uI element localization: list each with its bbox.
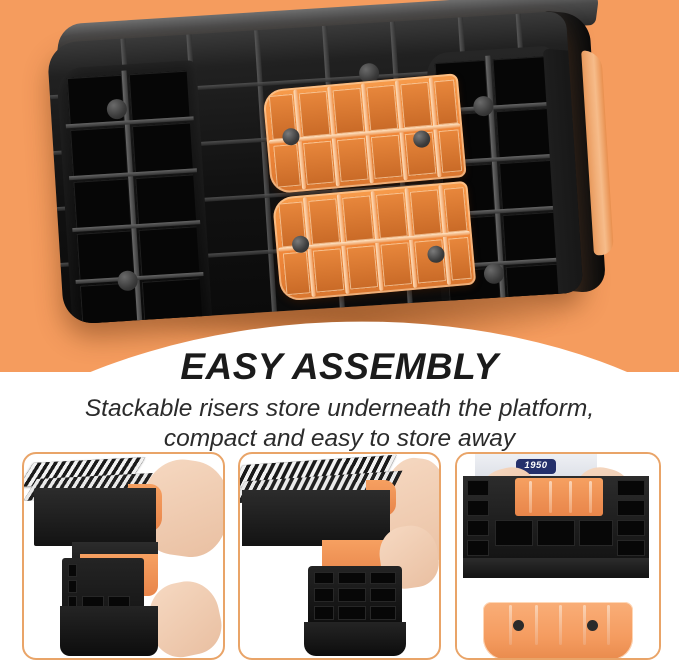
page-subtitle: Stackable risers store underneath the pl… — [0, 394, 679, 454]
orange-riser-stack — [262, 73, 480, 302]
riser-foot — [587, 620, 598, 631]
platform-underside-body — [47, 11, 584, 325]
riser-orange-bottom — [272, 181, 476, 302]
riser-orange-top — [262, 73, 466, 194]
riser-black-base — [304, 622, 406, 656]
panel-inserting-riser: 1950 — [455, 452, 661, 660]
step-platform — [45, 0, 609, 345]
subtitle-line-1: Stackable risers store underneath the pl… — [85, 395, 594, 422]
product-image-stage: EASY ASSEMBLY Stackable risers store und… — [0, 0, 679, 665]
subtitle-line-2: compact and easy to store away — [164, 425, 515, 452]
page-title: EASY ASSEMBLY — [0, 348, 679, 385]
platform-front-edge — [463, 558, 649, 578]
hero-section — [0, 0, 679, 372]
riser-foot — [513, 620, 524, 631]
panel-lifting-platform-off-riser — [22, 452, 225, 660]
platform-body — [34, 488, 156, 546]
riser-orange-standalone — [483, 602, 633, 658]
riser-black-base — [60, 606, 158, 656]
panel-platform-tilted-over-riser — [238, 452, 441, 660]
riser-black-left — [56, 60, 213, 325]
text-block: EASY ASSEMBLY Stackable risers store und… — [0, 348, 679, 448]
panel-row: 1950 — [0, 450, 679, 662]
sub-image-inserting-riser: 1950 — [457, 454, 659, 582]
sub-image-orange-riser — [457, 584, 659, 658]
platform-body — [242, 490, 390, 546]
